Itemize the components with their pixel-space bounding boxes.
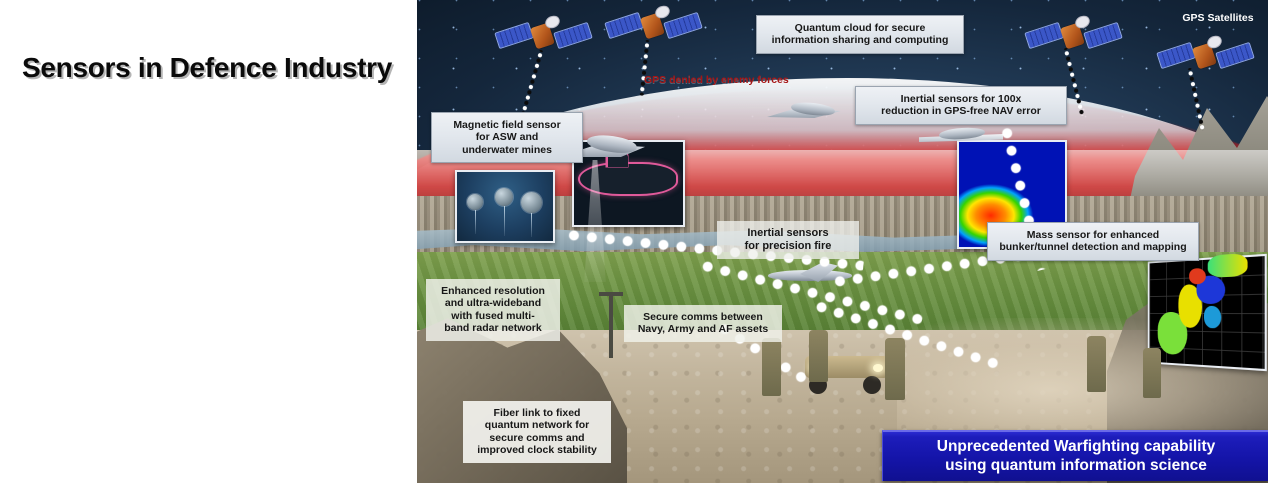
callout-line: Enhanced resolution — [431, 285, 555, 297]
gps-satellite-2 — [605, 4, 701, 48]
callout-line: bunker/tunnel detection and mapping — [993, 241, 1193, 253]
radar-mast — [609, 296, 613, 358]
callout-line: Magnetic field sensor — [437, 119, 577, 131]
label-gps-denied: GPS denied by enemy forces — [644, 74, 824, 86]
solar-panel-icon — [663, 12, 702, 39]
callout-line: Secure comms between — [629, 311, 777, 323]
radar-antenna — [599, 292, 623, 296]
mine-tether — [504, 206, 505, 236]
solar-panel-icon — [1156, 42, 1195, 69]
tunnel-map-inset — [1148, 254, 1267, 371]
vehicle-headlight — [873, 364, 883, 372]
solar-panel-icon — [1215, 42, 1254, 69]
banner-text: Unprecedented Warfighting capability usi… — [937, 438, 1215, 476]
underwater-mines-inset — [455, 170, 555, 243]
mine-icon — [467, 194, 483, 210]
soldier — [762, 338, 781, 396]
callout-fiber-link: Fiber link to fixed quantum network for … — [463, 401, 611, 463]
mine-tether — [531, 213, 532, 237]
callout-line: improved clock stability — [468, 444, 606, 456]
callout-line: underwater mines — [437, 144, 577, 156]
callout-line: secure comms and — [468, 432, 606, 444]
callout-radar-network: Enhanced resolution and ultra-wideband w… — [426, 279, 560, 341]
banner-line-1: Unprecedented Warfighting capability — [937, 438, 1215, 457]
callout-line: Inertial sensors for 100x — [862, 93, 1060, 105]
mine-tether — [475, 210, 476, 234]
title-area: Sensors in Defence Industry — [0, 0, 417, 483]
callout-line: Inertial sensors — [722, 227, 854, 240]
solar-panel-icon — [553, 22, 592, 49]
callout-line: with fused multi- — [431, 310, 555, 322]
soldier — [1087, 336, 1106, 392]
callout-mass-sensor: Mass sensor for enhanced bunker/tunnel d… — [987, 222, 1199, 261]
solar-panel-icon — [604, 12, 643, 39]
conclusion-banner: Unprecedented Warfighting capability usi… — [882, 430, 1268, 481]
callout-line: quantum network for — [468, 419, 606, 431]
callout-secure-comms: Secure comms between Navy, Army and AF a… — [624, 305, 782, 342]
callout-inertial-nav: Inertial sensors for 100x reduction in G… — [855, 86, 1067, 125]
mine-icon — [521, 192, 542, 213]
callout-line: information sharing and computing — [763, 34, 957, 46]
maritime-patrol-aircraft — [767, 98, 845, 128]
solar-panel-icon — [494, 22, 533, 49]
gps-satellite-3 — [1025, 14, 1121, 58]
tunnel-contour — [1204, 306, 1221, 328]
callout-line: for precision fire — [722, 240, 854, 253]
solar-panel-icon — [1083, 22, 1122, 49]
callout-line: for ASW and — [437, 131, 577, 143]
gps-satellite-4 — [1157, 34, 1253, 78]
callout-line: band radar network — [431, 322, 555, 334]
callout-line: and ultra-wideband — [431, 297, 555, 309]
label-gps-satellites: GPS Satellites — [1173, 12, 1263, 24]
callout-inertial-precision-fire: Inertial sensors for precision fire — [717, 221, 859, 259]
callout-line: Fiber link to fixed — [468, 407, 606, 419]
uav-drone — [919, 122, 1005, 156]
slide-canvas: Sensors in Defence Industry — [0, 0, 1268, 483]
soldier — [885, 338, 905, 400]
solar-panel-icon — [1024, 22, 1063, 49]
banner-line-2: using quantum information science — [937, 457, 1215, 476]
callout-line: Mass sensor for enhanced — [993, 229, 1193, 241]
soldier — [1143, 348, 1161, 398]
callout-quantum-cloud: Quantum cloud for secure information sha… — [756, 15, 964, 54]
page-title: Sensors in Defence Industry — [22, 52, 417, 84]
callout-magnetic-field-sensor: Magnetic field sensor for ASW and underw… — [431, 112, 583, 163]
callout-line: Quantum cloud for secure — [763, 22, 957, 34]
callout-line: Navy, Army and AF assets — [629, 323, 777, 335]
vehicle-wheel — [863, 376, 881, 394]
mine-icon — [495, 188, 513, 206]
tunnel-contour — [1208, 253, 1248, 278]
battlefield-infographic: Quantum cloud for secure information sha… — [417, 0, 1268, 483]
soldier — [809, 330, 828, 382]
callout-line: reduction in GPS-free NAV error — [862, 105, 1060, 117]
